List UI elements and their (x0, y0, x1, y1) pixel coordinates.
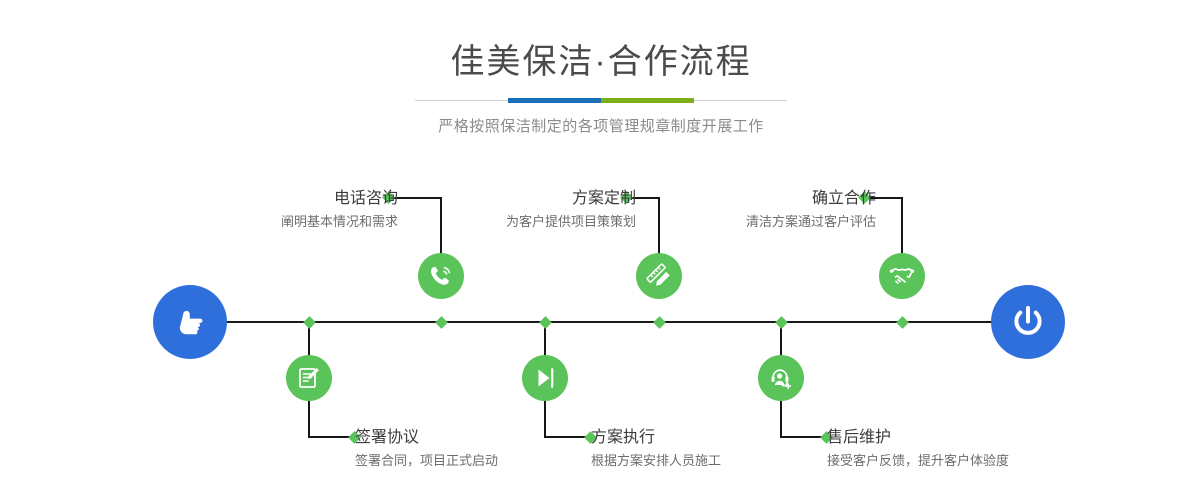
step-6-axis-diamond (775, 316, 788, 329)
timeline-start-node (153, 285, 227, 359)
step-3-title: 方案定制 (416, 188, 636, 210)
step-4-icon-badge (522, 355, 568, 401)
step-3-icon-badge (636, 253, 682, 299)
step-4-title: 方案执行 (591, 427, 851, 449)
step-5-axis-diamond (896, 316, 909, 329)
step-2-title: 签署协议 (355, 427, 615, 449)
headset-support-icon (768, 365, 794, 391)
handshake-icon (888, 262, 916, 290)
step-3-axis-diamond (653, 316, 666, 329)
step-2-desc: 签署合同，项目正式启动 (355, 451, 615, 471)
page-title: 佳美保洁·合作流程 (0, 40, 1202, 84)
step-1-icon-badge (418, 253, 464, 299)
step-1-title: 电话咨询 (178, 188, 398, 210)
step-6-label: 售后维护 接受客户反馈，提升客户体验度 (827, 427, 1107, 471)
play-execute-icon (532, 365, 558, 391)
step-2-axis-diamond (303, 316, 316, 329)
step-1-label: 电话咨询 阐明基本情况和需求 (178, 188, 398, 232)
step-2-icon-badge (286, 355, 332, 401)
step-2-label: 签署协议 签署合同，项目正式启动 (355, 427, 615, 471)
step-6-title: 售后维护 (827, 427, 1107, 449)
phone-call-icon (427, 262, 455, 290)
pencil-ruler-icon (646, 263, 672, 289)
document-sign-icon (296, 365, 322, 391)
step-3-label: 方案定制 为客户提供项目策策划 (416, 188, 636, 232)
step-5-title: 确立合作 (656, 188, 876, 210)
cooperation-process-infographic: 佳美保洁·合作流程 严格按照保洁制定的各项管理规章制度开展工作 (0, 0, 1202, 502)
step-4-axis-diamond (539, 316, 552, 329)
step-1-desc: 阐明基本情况和需求 (178, 212, 398, 232)
step-4-label: 方案执行 根据方案安排人员施工 (591, 427, 851, 471)
step-5-desc: 清洁方案通过客户评估 (656, 212, 876, 232)
step-6-desc: 接受客户反馈，提升客户体验度 (827, 451, 1107, 471)
step-6-icon-badge (758, 355, 804, 401)
title-divider (415, 98, 787, 103)
power-icon (1007, 301, 1049, 343)
header: 佳美保洁·合作流程 严格按照保洁制定的各项管理规章制度开展工作 (0, 0, 1202, 136)
page-subtitle: 严格按照保洁制定的各项管理规章制度开展工作 (0, 115, 1202, 136)
step-1-axis-diamond (435, 316, 448, 329)
step-3-desc: 为客户提供项目策策划 (416, 212, 636, 232)
divider-blue-segment (508, 98, 601, 103)
step-5-icon-badge (879, 253, 925, 299)
pointing-hand-icon (170, 302, 210, 342)
step-5-label: 确立合作 清洁方案通过客户评估 (656, 188, 876, 232)
divider-green-segment (601, 98, 694, 103)
timeline-axis (215, 321, 1005, 323)
step-4-desc: 根据方案安排人员施工 (591, 451, 851, 471)
timeline-end-node (991, 285, 1065, 359)
